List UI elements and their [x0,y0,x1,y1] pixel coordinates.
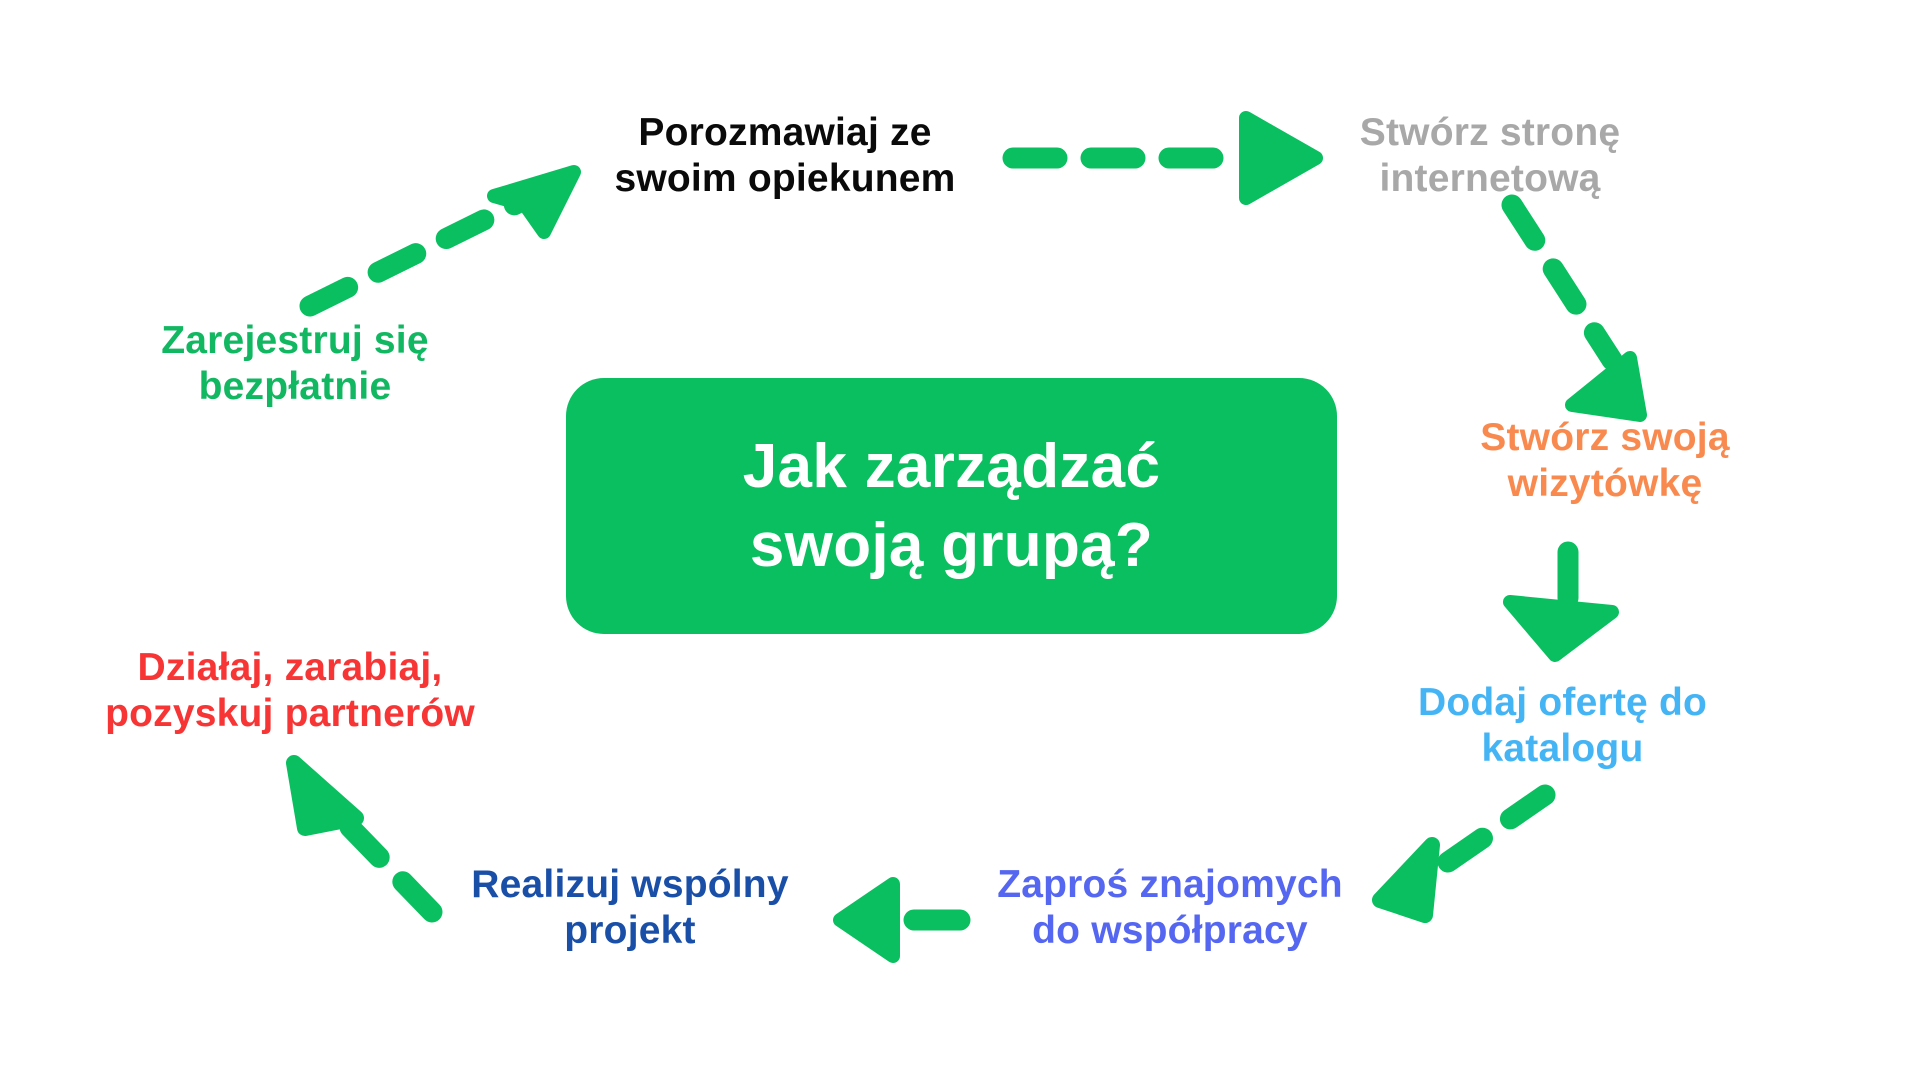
arrow-strona-to-wizytowka [1512,205,1640,415]
step-label-zarejestruj: Zarejestruj się bezpłatnie [130,318,460,410]
arrow-projekt-to-dzialaj [294,763,432,912]
arrow-wizytowka-to-katalog [1510,552,1612,655]
step-label-dzialaj: Działaj, zarabiaj, pozyskuj partnerów [75,645,505,737]
step-label-strona: Stwórz stronę internetową [1310,110,1670,202]
diagram-canvas: Jak zarządzać swoją grupą? Zarejestruj s… [0,0,1920,1080]
step-label-katalog: Dodaj ofertę do katalogu [1375,680,1750,772]
arrow-zapros-to-projekt [840,884,960,956]
arrow-porozmawiaj-to-strona [1013,118,1316,198]
step-label-wizytowka: Stwórz swoją wizytówkę [1440,415,1770,507]
center-hub-title: Jak zarządzać swoją grupą? [743,427,1161,586]
arrow-zarejestruj-to-porozmawiaj [310,172,574,306]
step-label-projekt: Realizuj wspólny projekt [430,862,830,954]
step-label-zapros: Zaproś znajomych do współpracy [965,862,1375,954]
arrow-katalog-to-zapros [1380,795,1545,915]
center-hub-card: Jak zarządzać swoją grupą? [566,378,1337,634]
step-label-porozmawiaj: Porozmawiaj ze swoim opiekunem [555,110,1015,202]
